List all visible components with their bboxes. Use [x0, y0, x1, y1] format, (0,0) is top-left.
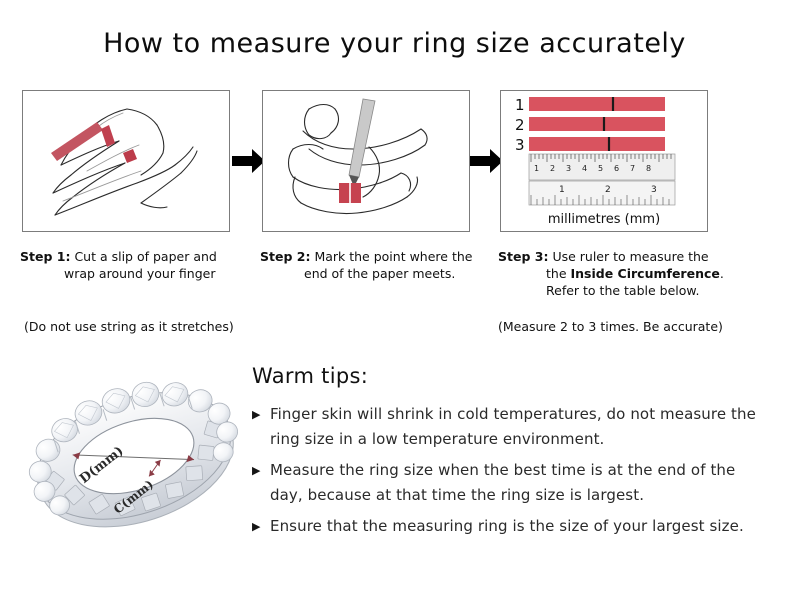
step-1-line2: wrap around your finger: [20, 265, 260, 282]
step-2-illustration-panel: [262, 90, 470, 232]
step-3-lead: Step 3:: [498, 249, 548, 264]
warm-tip-text: Measure the ring size when the best time…: [270, 458, 772, 508]
step-1-illustration-panel: [22, 90, 230, 232]
svg-text:4: 4: [582, 164, 587, 173]
step-3-line2-post: .: [720, 266, 724, 281]
step-captions-row: Step 1: Cut a slip of paper and wrap aro…: [0, 248, 789, 343]
warm-tips-heading: Warm tips:: [252, 364, 772, 388]
ruler-metric: 12 34 56 78: [529, 154, 675, 180]
step-3-line2-pre: the: [546, 266, 571, 281]
warm-tips-section: Warm tips: ▶ Finger skin will shrink in …: [252, 364, 772, 545]
arrow-step2-to-step3: [470, 148, 504, 174]
step-2-lead: Step 2:: [260, 249, 310, 264]
ruler-imperial: 123: [529, 181, 675, 205]
paper-strips-with-ruler-illustration: 1 2 3: [501, 91, 707, 231]
paper-strip-wrapped: [101, 125, 137, 163]
step-3-caption: Step 3: Use ruler to measure the the Ins…: [498, 248, 760, 299]
svg-text:1: 1: [534, 164, 539, 173]
svg-text:1: 1: [559, 185, 565, 195]
warm-tip-item: ▶ Ensure that the measuring ring is the …: [252, 514, 772, 539]
step-1-line1: Cut a slip of paper and: [74, 249, 216, 264]
svg-text:3: 3: [515, 136, 525, 154]
step-2-line2: end of the paper meets.: [260, 265, 500, 282]
svg-text:2: 2: [515, 116, 525, 134]
step-3-emphasis: Inside Circumference: [571, 266, 720, 281]
step-3-note: (Measure 2 to 3 times. Be accurate): [498, 318, 723, 335]
warm-tip-item: ▶ Measure the ring size when the best ti…: [252, 458, 772, 508]
warm-tip-text: Ensure that the measuring ring is the si…: [270, 514, 772, 539]
step-1-note: (Do not use string as it stretches): [24, 318, 234, 335]
step-1-caption: Step 1: Cut a slip of paper and wrap aro…: [20, 248, 260, 282]
svg-text:2: 2: [550, 164, 555, 173]
ring-diagram: D(mm) C(mm): [18, 352, 250, 552]
hand-with-paper-strip-illustration: [23, 91, 229, 231]
svg-text:3: 3: [651, 185, 657, 195]
step-3-line2: the Inside Circumference.: [498, 265, 760, 282]
paper-strip-red: [51, 122, 103, 161]
measured-strip-row-3: 3: [515, 136, 665, 154]
step-2-caption: Step 2: Mark the point where the end of …: [260, 248, 500, 282]
warm-tip-item: ▶ Finger skin will shrink in cold temper…: [252, 402, 772, 452]
measured-strip-row-1: 1: [515, 96, 665, 114]
svg-text:6: 6: [614, 164, 619, 173]
paper-strip-on-finger: [339, 183, 361, 203]
step-3-line3: Refer to the table below.: [498, 282, 760, 299]
step-panels-row: 1 2 3: [0, 90, 789, 240]
warm-tip-text: Finger skin will shrink in cold temperat…: [270, 402, 772, 452]
svg-text:2: 2: [605, 185, 611, 195]
svg-text:3: 3: [566, 164, 571, 173]
ruler-unit-caption: millimetres (mm): [548, 212, 660, 227]
step-3-line1: Use ruler to measure the: [552, 249, 708, 264]
svg-text:1: 1: [515, 96, 525, 114]
arrow-step1-to-step2: [232, 148, 266, 174]
marker-pen: [349, 99, 375, 187]
svg-text:8: 8: [646, 164, 651, 173]
bullet-triangle-icon: ▶: [252, 514, 270, 539]
bullet-triangle-icon: ▶: [252, 402, 270, 427]
step-1-lead: Step 1:: [20, 249, 70, 264]
bullet-triangle-icon: ▶: [252, 458, 270, 483]
svg-text:5: 5: [598, 164, 603, 173]
svg-text:7: 7: [630, 164, 635, 173]
page-title: How to measure your ring size accurately: [0, 28, 789, 59]
step-2-line1: Mark the point where the: [314, 249, 472, 264]
measured-strip-row-2: 2: [515, 116, 665, 134]
hand-marking-paper-strip-illustration: [263, 91, 469, 231]
ring-body: [18, 357, 250, 552]
step-3-illustration-panel: 1 2 3: [500, 90, 708, 232]
